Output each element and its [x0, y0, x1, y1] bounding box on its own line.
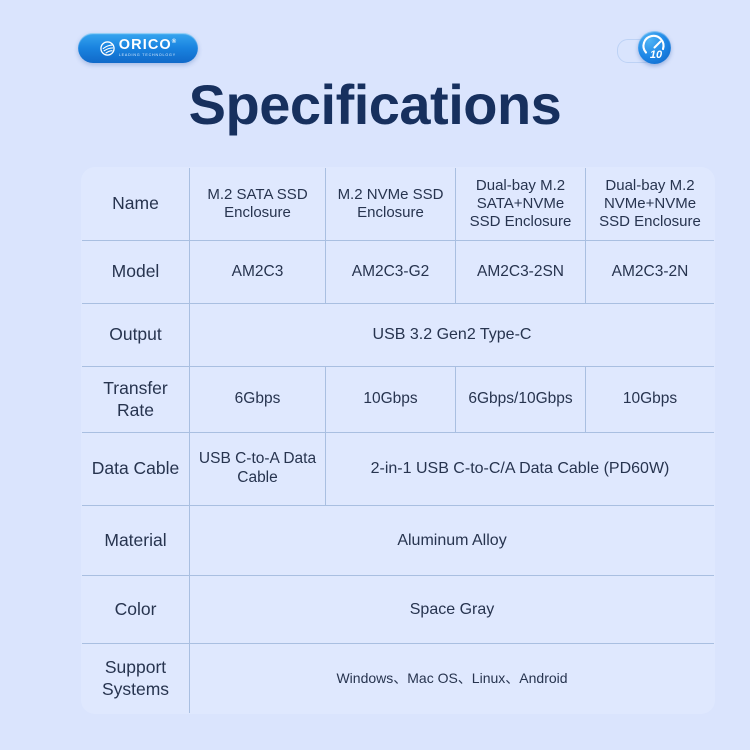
orico-mark-icon: [100, 41, 115, 56]
orico-wordmark: ORICO® LEADING TECHNOLOGY: [119, 38, 176, 59]
cell-output-merged: USB 3.2 Gen2 Type-C: [190, 304, 715, 367]
cell-color-merged: Space Gray: [190, 576, 715, 644]
orico-word: ORICO®: [119, 38, 176, 53]
cell-cable-col1: USB C-to-A Data Cable: [190, 433, 326, 506]
orico-logo: ORICO® LEADING TECHNOLOGY: [78, 33, 198, 63]
row-label-name: Name: [82, 168, 190, 241]
row-label-color: Color: [82, 576, 190, 644]
table-row-name: Name M.2 SATA SSD Enclosure M.2 NVMe SSD…: [82, 168, 715, 241]
orico-tagline: LEADING TECHNOLOGY: [119, 54, 176, 58]
cell-model-col2: AM2C3-G2: [326, 241, 456, 304]
cell-rate-col2: 10Gbps: [326, 367, 456, 433]
cell-name-col2: M.2 NVMe SSD Enclosure: [326, 168, 456, 241]
row-label-model: Model: [82, 241, 190, 304]
cell-material-merged: Aluminum Alloy: [190, 506, 715, 576]
cell-model-col4: AM2C3-2N: [586, 241, 715, 304]
cell-rate-col4: 10Gbps: [586, 367, 715, 433]
cell-model-col3: AM2C3-2SN: [456, 241, 586, 304]
cell-name-col3: Dual-bay M.2 SATA+NVMe SSD Enclosure: [456, 168, 586, 241]
table-row-transfer-rate: Transfer Rate 6Gbps 10Gbps 6Gbps/10Gbps …: [82, 367, 715, 433]
row-label-support-systems: Support Systems: [82, 644, 190, 714]
speed-value-text: 10: [650, 49, 663, 61]
row-label-data-cable: Data Cable: [82, 433, 190, 506]
cell-name-col1: M.2 SATA SSD Enclosure: [190, 168, 326, 241]
registered-mark: ®: [172, 39, 176, 45]
table-row-material: Material Aluminum Alloy: [82, 506, 715, 576]
page-title: Specifications: [0, 74, 750, 136]
row-label-material: Material: [82, 506, 190, 576]
row-label-output: Output: [82, 304, 190, 367]
table-row-color: Color Space Gray: [82, 576, 715, 644]
table-row-output: Output USB 3.2 Gen2 Type-C: [82, 304, 715, 367]
cell-rate-col1: 6Gbps: [190, 367, 326, 433]
speed-gauge-icon: 10: [638, 31, 671, 64]
table-row-data-cable: Data Cable USB C-to-A Data Cable 2-in-1 …: [82, 433, 715, 506]
specifications-table: Name M.2 SATA SSD Enclosure M.2 NVMe SSD…: [81, 167, 715, 714]
cell-support-systems-merged: Windows、Mac OS、Linux、Android: [190, 644, 715, 714]
specifications-table-container: Name M.2 SATA SSD Enclosure M.2 NVMe SSD…: [81, 167, 669, 714]
table-row-support-systems: Support Systems Windows、Mac OS、Linux、And…: [82, 644, 715, 714]
cell-name-col4: Dual-bay M.2 NVMe+NVMe SSD Enclosure: [586, 168, 715, 241]
speed-badge: 10: [617, 30, 675, 72]
table-row-model: Model AM2C3 AM2C3-G2 AM2C3-2SN AM2C3-2N: [82, 241, 715, 304]
cell-rate-col3: 6Gbps/10Gbps: [456, 367, 586, 433]
row-label-transfer-rate: Transfer Rate: [82, 367, 190, 433]
cell-cable-merged: 2-in-1 USB C-to-C/A Data Cable (PD60W): [326, 433, 715, 506]
cell-model-col1: AM2C3: [190, 241, 326, 304]
